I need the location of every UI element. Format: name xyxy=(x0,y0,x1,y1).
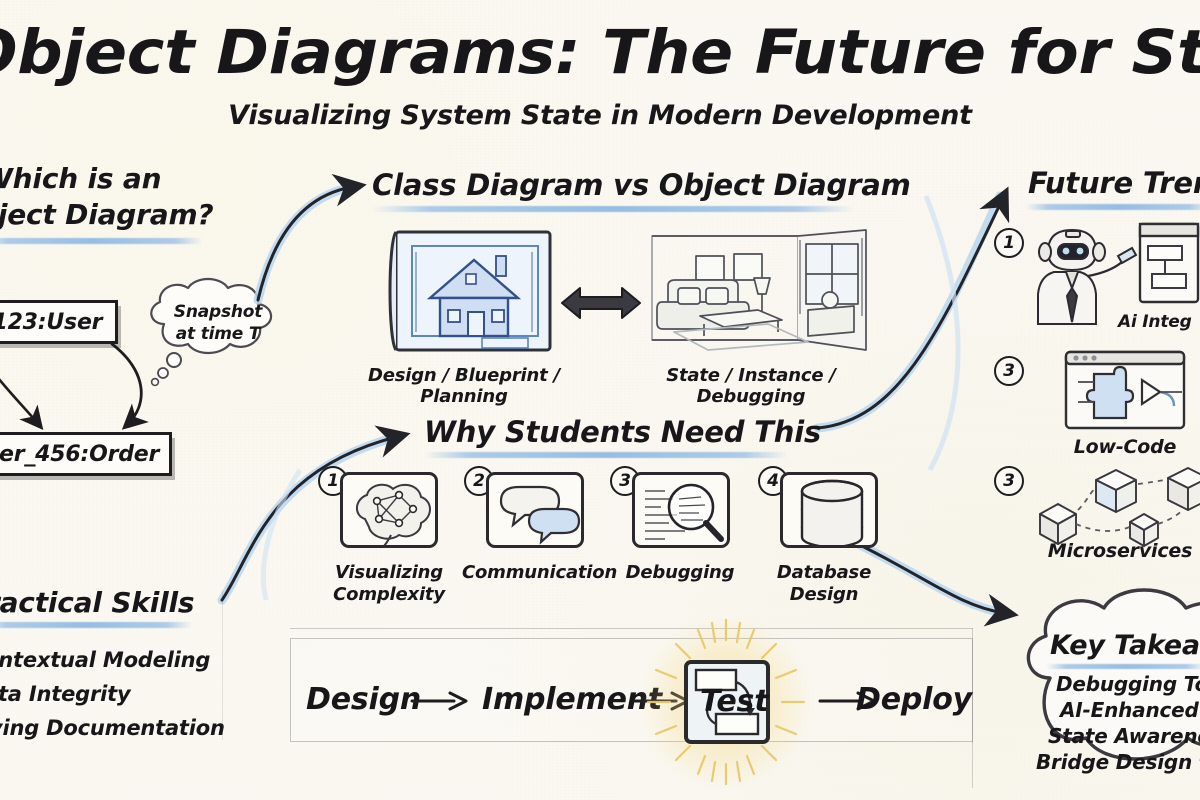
why-label-2a: Communication xyxy=(462,562,608,583)
practical-skills-heading: ractical Skills xyxy=(0,586,194,619)
future-label-3: Microservices xyxy=(1040,540,1200,562)
future-label-2: Low-Code xyxy=(1064,436,1186,458)
magnifier-document-icon xyxy=(635,475,730,548)
robot-presenter-icon xyxy=(1030,218,1150,326)
guide-line-right xyxy=(972,628,973,788)
compare-right-caption: State / Instance / Debugging xyxy=(612,365,890,407)
why-heading: Why Students Need This xyxy=(424,415,821,449)
left-heading-line1: Which is an xyxy=(0,162,161,195)
why-icon-frame-1 xyxy=(340,472,438,548)
future-heading: Future Trend xyxy=(1028,166,1200,200)
why-heading-underline xyxy=(424,452,788,458)
takeaways-heading: Key Takeawa xyxy=(1050,630,1200,661)
future-badge-1: 1 xyxy=(994,228,1024,258)
page-title: Object Diagrams: The Future for Students xyxy=(0,22,1200,84)
sketchnote-canvas: Object Diagrams: The Future for Students… xyxy=(0,0,1200,800)
future-label-1: Ai Integ xyxy=(1118,312,1200,332)
database-cylinder-icon xyxy=(783,475,878,548)
cloud-text-line1: Snapshot xyxy=(160,302,276,322)
cube-network-icon xyxy=(1034,462,1200,548)
why-label-1a: Visualizing xyxy=(328,562,450,583)
guide-line-left xyxy=(222,590,223,740)
workflow-panel-topline xyxy=(290,628,973,629)
future-badge-3: 3 xyxy=(994,466,1024,496)
takeaways-underline xyxy=(1046,664,1200,669)
takeaway-item: Bridge Design to xyxy=(1036,750,1200,774)
furnished-room-icon xyxy=(648,228,873,358)
practical-skill-item: ontextual Modeling xyxy=(0,648,210,672)
why-label-4a: Database xyxy=(762,562,886,583)
practical-skills-underline xyxy=(0,622,192,628)
takeaway-item: Debugging Too xyxy=(1056,672,1200,696)
why-label-1b: Complexity xyxy=(328,584,450,605)
why-icon-frame-4 xyxy=(780,472,878,548)
page-subtitle: Visualizing System State in Modern Devel… xyxy=(0,100,1200,131)
left-heading-underline xyxy=(0,238,202,244)
takeaway-item: AI-Enhanced xyxy=(1060,698,1199,722)
why-icon-frame-2 xyxy=(486,472,584,548)
workflow-step-test: Test xyxy=(700,684,768,719)
compare-left-caption: Design / Blueprint / Planning xyxy=(330,365,598,407)
why-label-4b: Design xyxy=(762,584,886,605)
blueprint-house-icon xyxy=(386,228,556,358)
takeaway-item: State Awarene xyxy=(1048,724,1200,748)
workflow-step-deploy: Deploy xyxy=(856,682,972,717)
slide-board-icon xyxy=(1138,222,1200,308)
practical-skill-item: iving Documentation xyxy=(0,716,225,740)
left-heading-line2: bject Diagram? xyxy=(0,198,213,231)
cloud-text-line2: at time T xyxy=(160,324,276,344)
future-badge-2: 3 xyxy=(994,356,1024,386)
puzzle-window-icon xyxy=(1064,350,1186,430)
workflow-step-design: Design xyxy=(306,682,421,717)
speech-bubbles-icon xyxy=(489,475,584,548)
why-label-3a: Debugging xyxy=(612,562,748,583)
compare-heading: Class Diagram vs Object Diagram xyxy=(372,168,911,202)
future-heading-underline xyxy=(1026,204,1200,210)
compare-heading-underline xyxy=(372,206,854,212)
double-arrow-icon xyxy=(560,280,642,326)
why-icon-frame-3 xyxy=(632,472,730,548)
brain-network-icon xyxy=(343,475,438,548)
workflow-arrow-1 xyxy=(410,690,468,712)
practical-skill-item: ata Integrity xyxy=(0,682,130,706)
